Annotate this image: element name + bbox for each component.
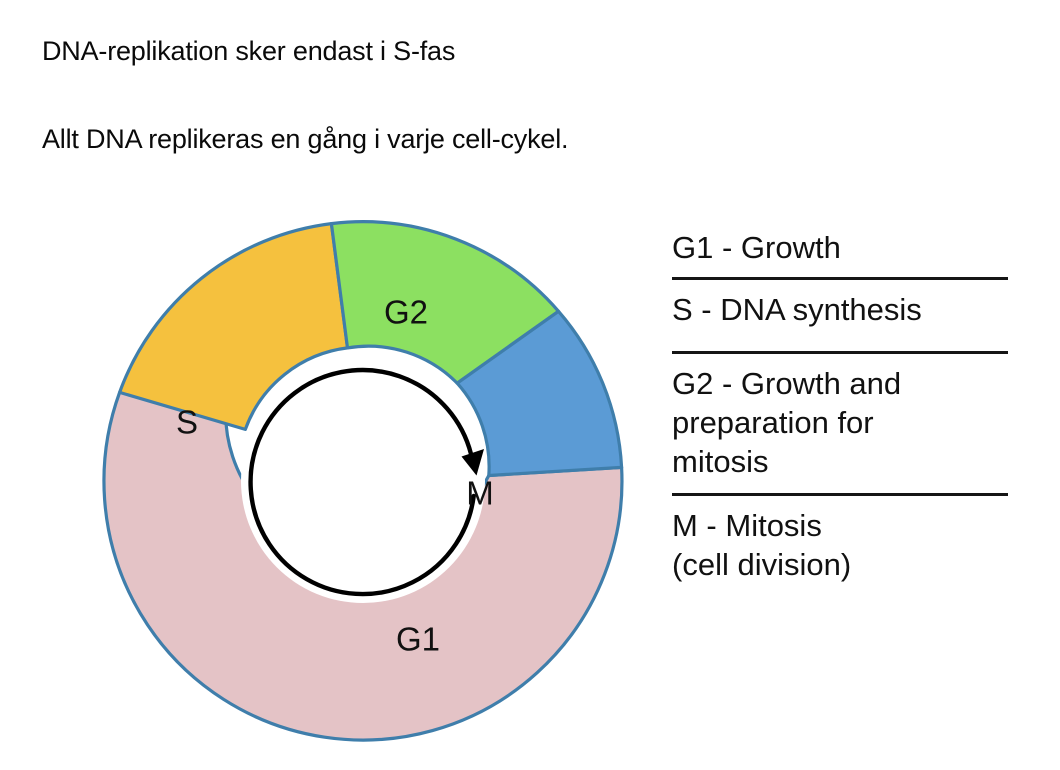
slide-heading-1: DNA-replikation sker endast i S-fas [42,36,455,67]
legend-item-g2-line-1: G2 - Growth and [672,364,1016,403]
wedge-label-g1: G1 [396,621,440,658]
donut-hole [241,359,485,603]
legend-item-g2-line-2: preparation for [672,403,1016,442]
legend-divider-3 [672,493,1008,496]
wedge-label-g2: G2 [384,294,428,331]
cell-cycle-diagram: M G2 S G1 [96,210,636,755]
wedge-label-m: M [466,475,494,512]
wedge-label-s: S [176,404,198,441]
legend-item-m-line-1: M - Mitosis [672,506,1016,545]
legend-item-s[interactable]: S - DNA synthesis [672,288,1016,351]
legend-item-g2[interactable]: G2 - Growth and preparation for mitosis [672,362,1016,493]
legend-divider-2 [672,351,1008,354]
legend-item-g2-line-3: mitosis [672,442,1016,481]
legend-item-m[interactable]: M - Mitosis (cell division) [672,504,1016,584]
legend-item-s-line-1: S - DNA synthesis [672,290,1016,329]
cell-cycle-donut-svg: M G2 S G1 [96,210,636,755]
legend-divider-1 [672,277,1008,280]
phase-legend: G1 - Growth S - DNA synthesis G2 - Growt… [672,228,1016,584]
slide-heading-2: Allt DNA replikeras en gång i varje cell… [42,124,568,155]
legend-item-m-line-2: (cell division) [672,545,1016,584]
legend-item-g1[interactable]: G1 - Growth [672,228,1016,277]
legend-item-g1-line-1: G1 - Growth [672,228,1016,267]
